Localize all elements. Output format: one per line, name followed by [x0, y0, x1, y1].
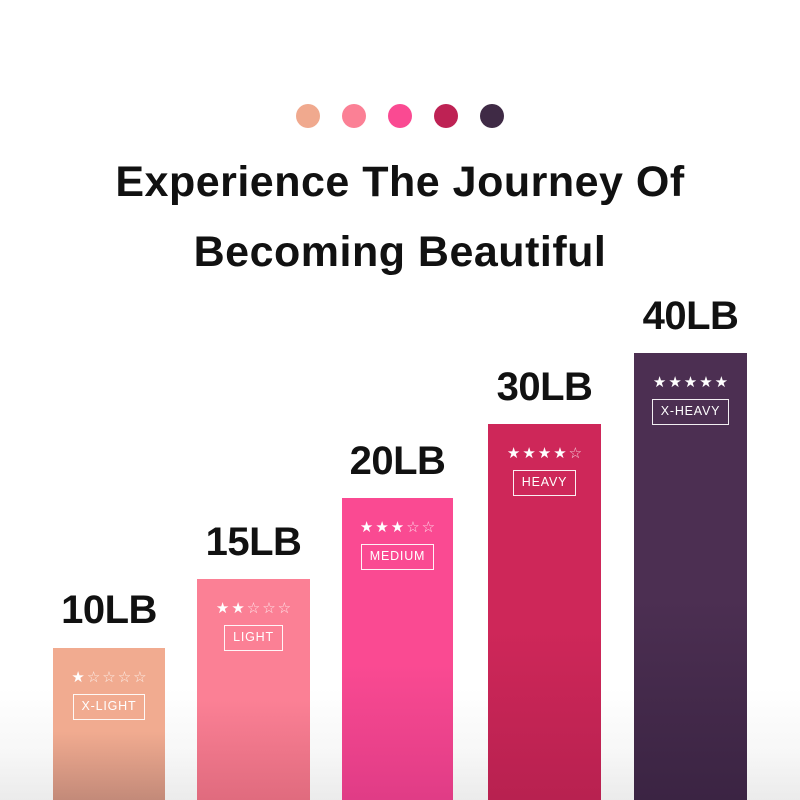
bar-group[interactable]: 30LB★★★★☆HEAVY: [488, 424, 601, 800]
star-filled-icon: ★: [391, 520, 404, 535]
star-empty-icon: ☆: [406, 520, 419, 535]
star-filled-icon: ★: [684, 375, 697, 390]
star-filled-icon: ★: [715, 375, 728, 390]
bar-content: ★★★★☆HEAVY: [488, 446, 601, 496]
bar-fill: ★★☆☆☆LIGHT: [197, 579, 310, 800]
star-filled-icon: ★: [360, 520, 373, 535]
bar-group[interactable]: 10LB★☆☆☆☆X-LIGHT: [53, 648, 165, 800]
rating-stars: ★★★★☆: [507, 446, 582, 461]
bar-group[interactable]: 40LB★★★★★X-HEAVY: [634, 353, 747, 800]
star-empty-icon: ☆: [133, 670, 146, 685]
bar-fill: ★☆☆☆☆X-LIGHT: [53, 648, 165, 800]
bar-group[interactable]: 15LB★★☆☆☆LIGHT: [197, 579, 310, 800]
bar-group[interactable]: 20LB★★★☆☆MEDIUM: [342, 498, 453, 800]
star-filled-icon: ★: [507, 446, 520, 461]
bar-fill: ★★★★★X-HEAVY: [634, 353, 747, 800]
bar-content: ★☆☆☆☆X-LIGHT: [53, 670, 165, 720]
resistance-level-badge: MEDIUM: [361, 544, 435, 570]
resistance-level-badge: X-HEAVY: [652, 399, 730, 425]
bar-weight-label: 15LB: [206, 522, 302, 562]
star-empty-icon: ☆: [278, 601, 291, 616]
star-filled-icon: ★: [231, 601, 244, 616]
rating-stars: ★★★★★: [653, 375, 728, 390]
star-filled-icon: ★: [668, 375, 681, 390]
star-filled-icon: ★: [553, 446, 566, 461]
star-filled-icon: ★: [375, 520, 388, 535]
bar-fill: ★★★★☆HEAVY: [488, 424, 601, 800]
star-empty-icon: ☆: [247, 601, 260, 616]
star-empty-icon: ☆: [569, 446, 582, 461]
product-infographic: Experience The Journey Of Becoming Beaut…: [0, 0, 800, 800]
star-empty-icon: ☆: [102, 670, 115, 685]
star-empty-icon: ☆: [262, 601, 275, 616]
star-filled-icon: ★: [653, 375, 666, 390]
bar-weight-label: 10LB: [61, 590, 157, 630]
star-filled-icon: ★: [522, 446, 535, 461]
bar-weight-label: 40LB: [643, 296, 739, 336]
bar-content: ★★★★★X-HEAVY: [634, 375, 747, 425]
rating-stars: ★★★☆☆: [360, 520, 435, 535]
star-filled-icon: ★: [71, 670, 84, 685]
resistance-level-badge: X-LIGHT: [73, 694, 146, 720]
rating-stars: ★★☆☆☆: [216, 601, 291, 616]
bar-content: ★★★☆☆MEDIUM: [342, 520, 453, 570]
star-empty-icon: ☆: [87, 670, 100, 685]
bar-weight-label: 20LB: [350, 441, 446, 481]
resistance-level-badge: HEAVY: [513, 470, 576, 496]
resistance-bar-chart: 10LB★☆☆☆☆X-LIGHT15LB★★☆☆☆LIGHT20LB★★★☆☆M…: [0, 0, 800, 800]
bar-content: ★★☆☆☆LIGHT: [197, 601, 310, 651]
rating-stars: ★☆☆☆☆: [71, 670, 146, 685]
bar-weight-label: 30LB: [497, 367, 593, 407]
star-empty-icon: ☆: [118, 670, 131, 685]
bar-fill: ★★★☆☆MEDIUM: [342, 498, 453, 800]
star-filled-icon: ★: [216, 601, 229, 616]
star-filled-icon: ★: [699, 375, 712, 390]
star-filled-icon: ★: [538, 446, 551, 461]
resistance-level-badge: LIGHT: [224, 625, 283, 651]
star-empty-icon: ☆: [422, 520, 435, 535]
